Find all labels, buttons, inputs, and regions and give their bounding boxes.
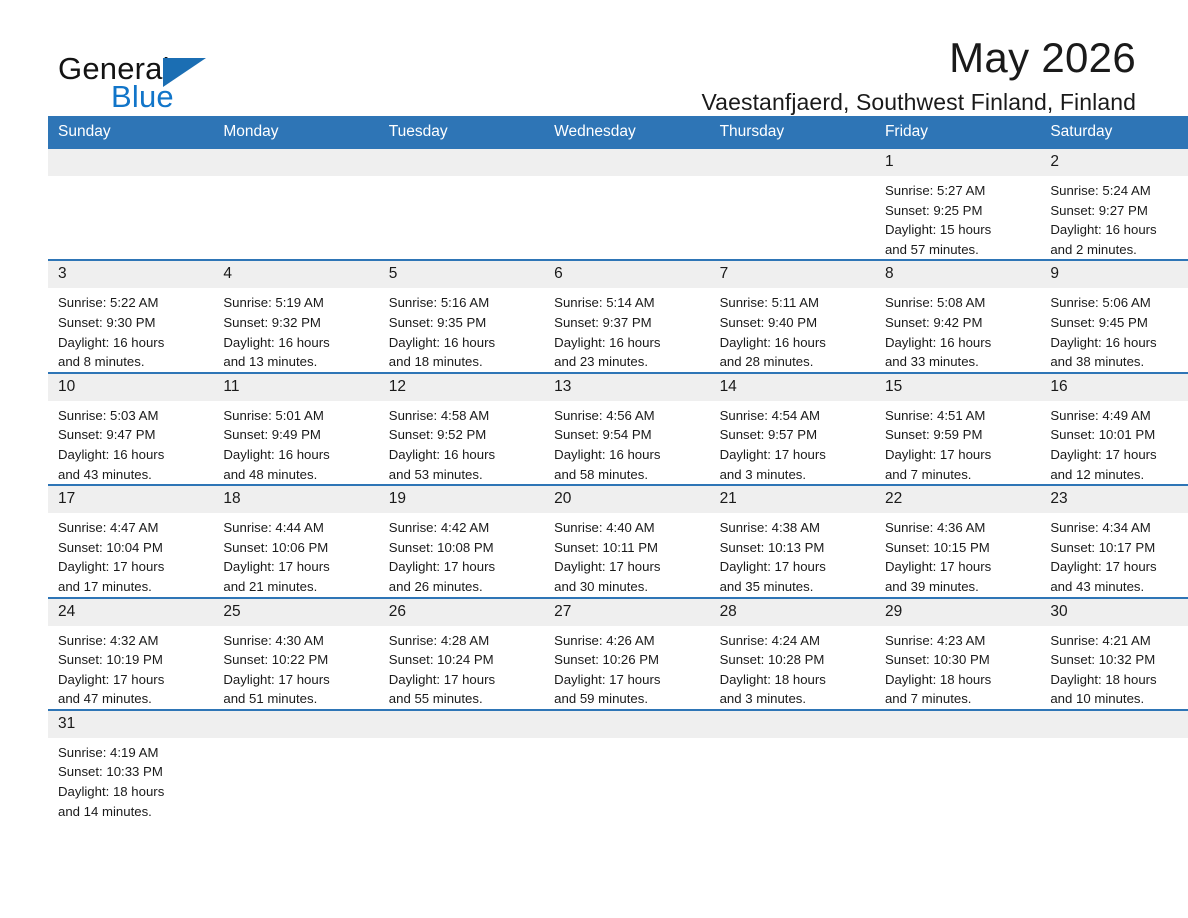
sunrise-line: Sunrise: 5:01 AM <box>223 406 370 426</box>
sunset-line: Sunset: 10:06 PM <box>223 538 370 558</box>
daylight-line-1: Daylight: 17 hours <box>58 557 205 577</box>
daylight-line-2: and 33 minutes. <box>885 352 1032 372</box>
sunrise-line: Sunrise: 5:14 AM <box>554 293 701 313</box>
calendar-week-row: 17Sunrise: 4:47 AMSunset: 10:04 PMDaylig… <box>48 485 1188 597</box>
day-number: 22 <box>875 486 1040 513</box>
sunrise-line: Sunrise: 4:58 AM <box>389 406 536 426</box>
day-details: Sunrise: 4:23 AMSunset: 10:30 PMDaylight… <box>875 626 1040 709</box>
day-number: 4 <box>213 261 378 288</box>
sunset-line: Sunset: 9:40 PM <box>720 313 867 333</box>
sunrise-line: Sunrise: 5:22 AM <box>58 293 205 313</box>
calendar-day-cell-empty <box>213 710 378 821</box>
day-number <box>48 149 213 176</box>
day-number: 7 <box>710 261 875 288</box>
sunrise-line: Sunrise: 4:36 AM <box>885 518 1032 538</box>
sunrise-line: Sunrise: 4:40 AM <box>554 518 701 538</box>
calendar-day-cell[interactable]: 26Sunrise: 4:28 AMSunset: 10:24 PMDaylig… <box>379 598 544 710</box>
calendar-day-cell[interactable]: 28Sunrise: 4:24 AMSunset: 10:28 PMDaylig… <box>710 598 875 710</box>
day-number: 21 <box>710 486 875 513</box>
sunset-line: Sunset: 9:49 PM <box>223 425 370 445</box>
calendar-page: General Blue May 2026 Vaestanfjaerd, Sou… <box>0 0 1188 918</box>
sunrise-line: Sunrise: 4:54 AM <box>720 406 867 426</box>
day-number: 15 <box>875 374 1040 401</box>
day-details: Sunrise: 4:26 AMSunset: 10:26 PMDaylight… <box>544 626 709 709</box>
day-details: Sunrise: 4:21 AMSunset: 10:32 PMDaylight… <box>1040 626 1188 709</box>
daylight-line-2: and 43 minutes. <box>58 465 205 485</box>
calendar-day-cell[interactable]: 3Sunrise: 5:22 AMSunset: 9:30 PMDaylight… <box>48 260 213 372</box>
calendar-day-cell[interactable]: 7Sunrise: 5:11 AMSunset: 9:40 PMDaylight… <box>710 260 875 372</box>
sunrise-line: Sunrise: 4:24 AM <box>720 631 867 651</box>
day-details: Sunrise: 4:40 AMSunset: 10:11 PMDaylight… <box>544 513 709 596</box>
sunrise-line: Sunrise: 4:34 AM <box>1050 518 1188 538</box>
sunrise-line: Sunrise: 4:23 AM <box>885 631 1032 651</box>
calendar-week-row: 1Sunrise: 5:27 AMSunset: 9:25 PMDaylight… <box>48 149 1188 260</box>
daylight-line-1: Daylight: 16 hours <box>885 333 1032 353</box>
calendar-day-cell-empty <box>544 149 709 260</box>
daylight-line-1: Daylight: 16 hours <box>58 333 205 353</box>
sunset-line: Sunset: 10:04 PM <box>58 538 205 558</box>
daylight-line-1: Daylight: 17 hours <box>223 557 370 577</box>
day-details: Sunrise: 5:11 AMSunset: 9:40 PMDaylight:… <box>710 288 875 371</box>
daylight-line-2: and 7 minutes. <box>885 465 1032 485</box>
calendar-header-row: SundayMondayTuesdayWednesdayThursdayFrid… <box>48 116 1188 149</box>
day-number: 1 <box>875 149 1040 176</box>
daylight-line-1: Daylight: 17 hours <box>223 670 370 690</box>
sunset-line: Sunset: 9:59 PM <box>885 425 1032 445</box>
page-masthead: General Blue May 2026 Vaestanfjaerd, Sou… <box>48 0 1140 110</box>
day-number: 9 <box>1040 261 1188 288</box>
sunset-line: Sunset: 10:32 PM <box>1050 650 1188 670</box>
daylight-line-2: and 35 minutes. <box>720 577 867 597</box>
calendar-day-cell[interactable]: 1Sunrise: 5:27 AMSunset: 9:25 PMDaylight… <box>875 149 1040 260</box>
sunrise-line: Sunrise: 5:08 AM <box>885 293 1032 313</box>
daylight-line-1: Daylight: 17 hours <box>885 557 1032 577</box>
calendar-week-row: 3Sunrise: 5:22 AMSunset: 9:30 PMDaylight… <box>48 260 1188 372</box>
day-number: 3 <box>48 261 213 288</box>
calendar-day-cell-empty <box>379 149 544 260</box>
calendar-body: 1Sunrise: 5:27 AMSunset: 9:25 PMDaylight… <box>48 149 1188 821</box>
sunrise-line: Sunrise: 5:19 AM <box>223 293 370 313</box>
day-details: Sunrise: 5:06 AMSunset: 9:45 PMDaylight:… <box>1040 288 1188 371</box>
day-number: 28 <box>710 599 875 626</box>
day-details: Sunrise: 5:19 AMSunset: 9:32 PMDaylight:… <box>213 288 378 371</box>
calendar-day-cell[interactable]: 10Sunrise: 5:03 AMSunset: 9:47 PMDayligh… <box>48 373 213 485</box>
sunset-line: Sunset: 10:26 PM <box>554 650 701 670</box>
sunrise-line: Sunrise: 5:03 AM <box>58 406 205 426</box>
sunset-line: Sunset: 10:11 PM <box>554 538 701 558</box>
day-details: Sunrise: 5:08 AMSunset: 9:42 PMDaylight:… <box>875 288 1040 371</box>
day-details: Sunrise: 4:51 AMSunset: 9:59 PMDaylight:… <box>875 401 1040 484</box>
sunset-line: Sunset: 10:01 PM <box>1050 425 1188 445</box>
day-number: 8 <box>875 261 1040 288</box>
daylight-line-1: Daylight: 16 hours <box>389 445 536 465</box>
daylight-line-1: Daylight: 16 hours <box>720 333 867 353</box>
sunset-line: Sunset: 10:24 PM <box>389 650 536 670</box>
daylight-line-2: and 21 minutes. <box>223 577 370 597</box>
day-number: 6 <box>544 261 709 288</box>
day-details: Sunrise: 4:42 AMSunset: 10:08 PMDaylight… <box>379 513 544 596</box>
daylight-line-2: and 43 minutes. <box>1050 577 1188 597</box>
calendar-day-cell-empty <box>1040 710 1188 821</box>
sunset-line: Sunset: 9:27 PM <box>1050 201 1188 221</box>
day-number: 20 <box>544 486 709 513</box>
sunset-line: Sunset: 9:47 PM <box>58 425 205 445</box>
day-details: Sunrise: 4:47 AMSunset: 10:04 PMDaylight… <box>48 513 213 596</box>
sunrise-line: Sunrise: 4:47 AM <box>58 518 205 538</box>
calendar-day-cell[interactable]: 11Sunrise: 5:01 AMSunset: 9:49 PMDayligh… <box>213 373 378 485</box>
daylight-line-1: Daylight: 18 hours <box>720 670 867 690</box>
daylight-line-1: Daylight: 16 hours <box>223 445 370 465</box>
weekday-header-monday: Monday <box>213 116 378 149</box>
day-number: 17 <box>48 486 213 513</box>
daylight-line-1: Daylight: 17 hours <box>58 670 205 690</box>
day-details: Sunrise: 4:28 AMSunset: 10:24 PMDaylight… <box>379 626 544 709</box>
calendar-week-row: 24Sunrise: 4:32 AMSunset: 10:19 PMDaylig… <box>48 598 1188 710</box>
sunrise-line: Sunrise: 5:27 AM <box>885 181 1032 201</box>
weekday-header-wednesday: Wednesday <box>544 116 709 149</box>
sunrise-line: Sunrise: 4:19 AM <box>58 743 205 763</box>
day-number <box>875 711 1040 738</box>
daylight-line-1: Daylight: 17 hours <box>554 557 701 577</box>
sunrise-line: Sunrise: 5:24 AM <box>1050 181 1188 201</box>
sunset-line: Sunset: 9:57 PM <box>720 425 867 445</box>
sunrise-line: Sunrise: 4:51 AM <box>885 406 1032 426</box>
calendar-day-cell[interactable]: 24Sunrise: 4:32 AMSunset: 10:19 PMDaylig… <box>48 598 213 710</box>
daylight-line-1: Daylight: 16 hours <box>223 333 370 353</box>
day-details: Sunrise: 5:27 AMSunset: 9:25 PMDaylight:… <box>875 176 1040 259</box>
calendar-day-cell[interactable]: 15Sunrise: 4:51 AMSunset: 9:59 PMDayligh… <box>875 373 1040 485</box>
sunrise-line: Sunrise: 4:30 AM <box>223 631 370 651</box>
daylight-line-2: and 12 minutes. <box>1050 465 1188 485</box>
calendar-day-cell[interactable]: 18Sunrise: 4:44 AMSunset: 10:06 PMDaylig… <box>213 485 378 597</box>
daylight-line-1: Daylight: 16 hours <box>1050 333 1188 353</box>
calendar-day-cell-empty <box>48 149 213 260</box>
daylight-line-1: Daylight: 18 hours <box>1050 670 1188 690</box>
day-number: 30 <box>1040 599 1188 626</box>
daylight-line-2: and 28 minutes. <box>720 352 867 372</box>
calendar-day-cell[interactable]: 19Sunrise: 4:42 AMSunset: 10:08 PMDaylig… <box>379 485 544 597</box>
day-details: Sunrise: 5:03 AMSunset: 9:47 PMDaylight:… <box>48 401 213 484</box>
day-details: Sunrise: 5:24 AMSunset: 9:27 PMDaylight:… <box>1040 176 1188 259</box>
day-details: Sunrise: 4:56 AMSunset: 9:54 PMDaylight:… <box>544 401 709 484</box>
sunset-line: Sunset: 10:13 PM <box>720 538 867 558</box>
calendar-day-cell[interactable]: 25Sunrise: 4:30 AMSunset: 10:22 PMDaylig… <box>213 598 378 710</box>
sunrise-line: Sunrise: 4:42 AM <box>389 518 536 538</box>
weekday-header-friday: Friday <box>875 116 1040 149</box>
day-details: Sunrise: 4:32 AMSunset: 10:19 PMDaylight… <box>48 626 213 709</box>
sunset-line: Sunset: 10:08 PM <box>389 538 536 558</box>
day-details: Sunrise: 4:38 AMSunset: 10:13 PMDaylight… <box>710 513 875 596</box>
day-number <box>213 149 378 176</box>
calendar-day-cell-empty <box>875 710 1040 821</box>
daylight-line-1: Daylight: 17 hours <box>720 445 867 465</box>
day-number: 16 <box>1040 374 1188 401</box>
calendar-day-cell[interactable]: 12Sunrise: 4:58 AMSunset: 9:52 PMDayligh… <box>379 373 544 485</box>
page-title: May 2026 <box>701 34 1136 82</box>
day-number <box>544 149 709 176</box>
sunrise-line: Sunrise: 5:16 AM <box>389 293 536 313</box>
calendar-day-cell[interactable]: 8Sunrise: 5:08 AMSunset: 9:42 PMDaylight… <box>875 260 1040 372</box>
day-number: 5 <box>379 261 544 288</box>
daylight-line-1: Daylight: 18 hours <box>58 782 205 802</box>
day-number <box>379 711 544 738</box>
daylight-line-2: and 2 minutes. <box>1050 240 1188 260</box>
sunset-line: Sunset: 10:33 PM <box>58 762 205 782</box>
calendar-day-cell[interactable]: 14Sunrise: 4:54 AMSunset: 9:57 PMDayligh… <box>710 373 875 485</box>
daylight-line-2: and 57 minutes. <box>885 240 1032 260</box>
daylight-line-2: and 3 minutes. <box>720 689 867 709</box>
sunset-line: Sunset: 10:15 PM <box>885 538 1032 558</box>
sunset-line: Sunset: 10:17 PM <box>1050 538 1188 558</box>
daylight-line-2: and 10 minutes. <box>1050 689 1188 709</box>
calendar-day-cell[interactable]: 17Sunrise: 4:47 AMSunset: 10:04 PMDaylig… <box>48 485 213 597</box>
daylight-line-2: and 30 minutes. <box>554 577 701 597</box>
sunset-line: Sunset: 9:52 PM <box>389 425 536 445</box>
daylight-line-2: and 59 minutes. <box>554 689 701 709</box>
daylight-line-1: Daylight: 17 hours <box>389 670 536 690</box>
day-number: 24 <box>48 599 213 626</box>
daylight-line-2: and 39 minutes. <box>885 577 1032 597</box>
sunrise-line: Sunrise: 5:06 AM <box>1050 293 1188 313</box>
day-details: Sunrise: 4:58 AMSunset: 9:52 PMDaylight:… <box>379 401 544 484</box>
day-number <box>710 149 875 176</box>
day-details: Sunrise: 4:24 AMSunset: 10:28 PMDaylight… <box>710 626 875 709</box>
sunset-line: Sunset: 10:30 PM <box>885 650 1032 670</box>
day-details: Sunrise: 4:49 AMSunset: 10:01 PMDaylight… <box>1040 401 1188 484</box>
sunrise-line: Sunrise: 4:44 AM <box>223 518 370 538</box>
day-details: Sunrise: 4:54 AMSunset: 9:57 PMDaylight:… <box>710 401 875 484</box>
day-number <box>710 711 875 738</box>
daylight-line-1: Daylight: 16 hours <box>1050 220 1188 240</box>
logo-text-blue: Blue <box>111 80 174 114</box>
daylight-line-2: and 51 minutes. <box>223 689 370 709</box>
day-number: 10 <box>48 374 213 401</box>
sunset-line: Sunset: 9:30 PM <box>58 313 205 333</box>
daylight-line-1: Daylight: 16 hours <box>554 445 701 465</box>
general-blue-logo: General Blue <box>58 52 318 116</box>
daylight-line-2: and 23 minutes. <box>554 352 701 372</box>
sunrise-line: Sunrise: 4:38 AM <box>720 518 867 538</box>
calendar-day-cell[interactable]: 5Sunrise: 5:16 AMSunset: 9:35 PMDaylight… <box>379 260 544 372</box>
sunrise-sunset-calendar: SundayMondayTuesdayWednesdayThursdayFrid… <box>48 116 1188 821</box>
daylight-line-2: and 38 minutes. <box>1050 352 1188 372</box>
sunrise-line: Sunrise: 4:49 AM <box>1050 406 1188 426</box>
daylight-line-1: Daylight: 16 hours <box>58 445 205 465</box>
calendar-day-cell-empty <box>213 149 378 260</box>
weekday-header-thursday: Thursday <box>710 116 875 149</box>
daylight-line-2: and 48 minutes. <box>223 465 370 485</box>
day-number: 25 <box>213 599 378 626</box>
day-number <box>544 711 709 738</box>
sunset-line: Sunset: 9:42 PM <box>885 313 1032 333</box>
daylight-line-2: and 58 minutes. <box>554 465 701 485</box>
calendar-day-cell[interactable]: 21Sunrise: 4:38 AMSunset: 10:13 PMDaylig… <box>710 485 875 597</box>
weekday-header-sunday: Sunday <box>48 116 213 149</box>
calendar-week-row: 10Sunrise: 5:03 AMSunset: 9:47 PMDayligh… <box>48 373 1188 485</box>
calendar-day-cell[interactable]: 27Sunrise: 4:26 AMSunset: 10:26 PMDaylig… <box>544 598 709 710</box>
calendar-day-cell[interactable]: 9Sunrise: 5:06 AMSunset: 9:45 PMDaylight… <box>1040 260 1188 372</box>
daylight-line-2: and 7 minutes. <box>885 689 1032 709</box>
daylight-line-1: Daylight: 17 hours <box>1050 445 1188 465</box>
calendar-day-cell[interactable]: 22Sunrise: 4:36 AMSunset: 10:15 PMDaylig… <box>875 485 1040 597</box>
day-number: 27 <box>544 599 709 626</box>
daylight-line-1: Daylight: 17 hours <box>554 670 701 690</box>
day-details: Sunrise: 4:36 AMSunset: 10:15 PMDaylight… <box>875 513 1040 596</box>
daylight-line-2: and 3 minutes. <box>720 465 867 485</box>
daylight-line-2: and 55 minutes. <box>389 689 536 709</box>
calendar-day-cell[interactable]: 4Sunrise: 5:19 AMSunset: 9:32 PMDaylight… <box>213 260 378 372</box>
calendar-day-cell[interactable]: 30Sunrise: 4:21 AMSunset: 10:32 PMDaylig… <box>1040 598 1188 710</box>
daylight-line-1: Daylight: 17 hours <box>885 445 1032 465</box>
day-number: 29 <box>875 599 1040 626</box>
daylight-line-1: Daylight: 16 hours <box>389 333 536 353</box>
daylight-line-2: and 14 minutes. <box>58 802 205 822</box>
daylight-line-2: and 47 minutes. <box>58 689 205 709</box>
sunset-line: Sunset: 9:54 PM <box>554 425 701 445</box>
day-number <box>1040 711 1188 738</box>
weekday-header-row: SundayMondayTuesdayWednesdayThursdayFrid… <box>48 116 1188 149</box>
daylight-line-2: and 53 minutes. <box>389 465 536 485</box>
sunset-line: Sunset: 9:45 PM <box>1050 313 1188 333</box>
day-number: 13 <box>544 374 709 401</box>
calendar-day-cell-empty <box>710 710 875 821</box>
day-number: 26 <box>379 599 544 626</box>
calendar-day-cell[interactable]: 13Sunrise: 4:56 AMSunset: 9:54 PMDayligh… <box>544 373 709 485</box>
sunrise-line: Sunrise: 4:26 AM <box>554 631 701 651</box>
sunrise-line: Sunrise: 4:28 AM <box>389 631 536 651</box>
sunset-line: Sunset: 10:22 PM <box>223 650 370 670</box>
sunset-line: Sunset: 10:28 PM <box>720 650 867 670</box>
calendar-day-cell[interactable]: 23Sunrise: 4:34 AMSunset: 10:17 PMDaylig… <box>1040 485 1188 597</box>
day-number: 18 <box>213 486 378 513</box>
daylight-line-2: and 26 minutes. <box>389 577 536 597</box>
day-number: 23 <box>1040 486 1188 513</box>
sunrise-line: Sunrise: 5:11 AM <box>720 293 867 313</box>
sunset-line: Sunset: 9:37 PM <box>554 313 701 333</box>
calendar-week-row: 31Sunrise: 4:19 AMSunset: 10:33 PMDaylig… <box>48 710 1188 821</box>
calendar-day-cell[interactable]: 2Sunrise: 5:24 AMSunset: 9:27 PMDaylight… <box>1040 149 1188 260</box>
day-number <box>379 149 544 176</box>
sunset-line: Sunset: 10:19 PM <box>58 650 205 670</box>
calendar-day-cell[interactable]: 31Sunrise: 4:19 AMSunset: 10:33 PMDaylig… <box>48 710 213 821</box>
sunrise-line: Sunrise: 4:21 AM <box>1050 631 1188 651</box>
daylight-line-1: Daylight: 16 hours <box>554 333 701 353</box>
day-number: 19 <box>379 486 544 513</box>
daylight-line-2: and 13 minutes. <box>223 352 370 372</box>
calendar-day-cell-empty <box>710 149 875 260</box>
day-details: Sunrise: 5:22 AMSunset: 9:30 PMDaylight:… <box>48 288 213 371</box>
sunset-line: Sunset: 9:25 PM <box>885 201 1032 221</box>
day-details: Sunrise: 4:44 AMSunset: 10:06 PMDaylight… <box>213 513 378 596</box>
day-number: 12 <box>379 374 544 401</box>
sunrise-line: Sunrise: 4:56 AM <box>554 406 701 426</box>
calendar-day-cell[interactable]: 6Sunrise: 5:14 AMSunset: 9:37 PMDaylight… <box>544 260 709 372</box>
daylight-line-1: Daylight: 17 hours <box>1050 557 1188 577</box>
daylight-line-1: Daylight: 17 hours <box>720 557 867 577</box>
day-details: Sunrise: 5:01 AMSunset: 9:49 PMDaylight:… <box>213 401 378 484</box>
day-number: 11 <box>213 374 378 401</box>
daylight-line-1: Daylight: 18 hours <box>885 670 1032 690</box>
sunrise-line: Sunrise: 4:32 AM <box>58 631 205 651</box>
day-details: Sunrise: 4:30 AMSunset: 10:22 PMDaylight… <box>213 626 378 709</box>
day-number: 31 <box>48 711 213 738</box>
daylight-line-1: Daylight: 15 hours <box>885 220 1032 240</box>
calendar-day-cell[interactable]: 16Sunrise: 4:49 AMSunset: 10:01 PMDaylig… <box>1040 373 1188 485</box>
calendar-day-cell-empty <box>544 710 709 821</box>
title-block: May 2026 Vaestanfjaerd, Southwest Finlan… <box>701 34 1136 116</box>
sunset-line: Sunset: 9:35 PM <box>389 313 536 333</box>
calendar-day-cell[interactable]: 29Sunrise: 4:23 AMSunset: 10:30 PMDaylig… <box>875 598 1040 710</box>
weekday-header-tuesday: Tuesday <box>379 116 544 149</box>
daylight-line-1: Daylight: 17 hours <box>389 557 536 577</box>
day-details: Sunrise: 5:16 AMSunset: 9:35 PMDaylight:… <box>379 288 544 371</box>
weekday-header-saturday: Saturday <box>1040 116 1188 149</box>
location-subtitle: Vaestanfjaerd, Southwest Finland, Finlan… <box>701 88 1136 116</box>
day-details: Sunrise: 5:14 AMSunset: 9:37 PMDaylight:… <box>544 288 709 371</box>
day-details: Sunrise: 4:34 AMSunset: 10:17 PMDaylight… <box>1040 513 1188 596</box>
calendar-day-cell-empty <box>379 710 544 821</box>
daylight-line-2: and 18 minutes. <box>389 352 536 372</box>
sunset-line: Sunset: 9:32 PM <box>223 313 370 333</box>
day-number <box>213 711 378 738</box>
day-details: Sunrise: 4:19 AMSunset: 10:33 PMDaylight… <box>48 738 213 821</box>
day-number: 14 <box>710 374 875 401</box>
calendar-day-cell[interactable]: 20Sunrise: 4:40 AMSunset: 10:11 PMDaylig… <box>544 485 709 597</box>
day-number: 2 <box>1040 149 1188 176</box>
daylight-line-2: and 17 minutes. <box>58 577 205 597</box>
daylight-line-2: and 8 minutes. <box>58 352 205 372</box>
